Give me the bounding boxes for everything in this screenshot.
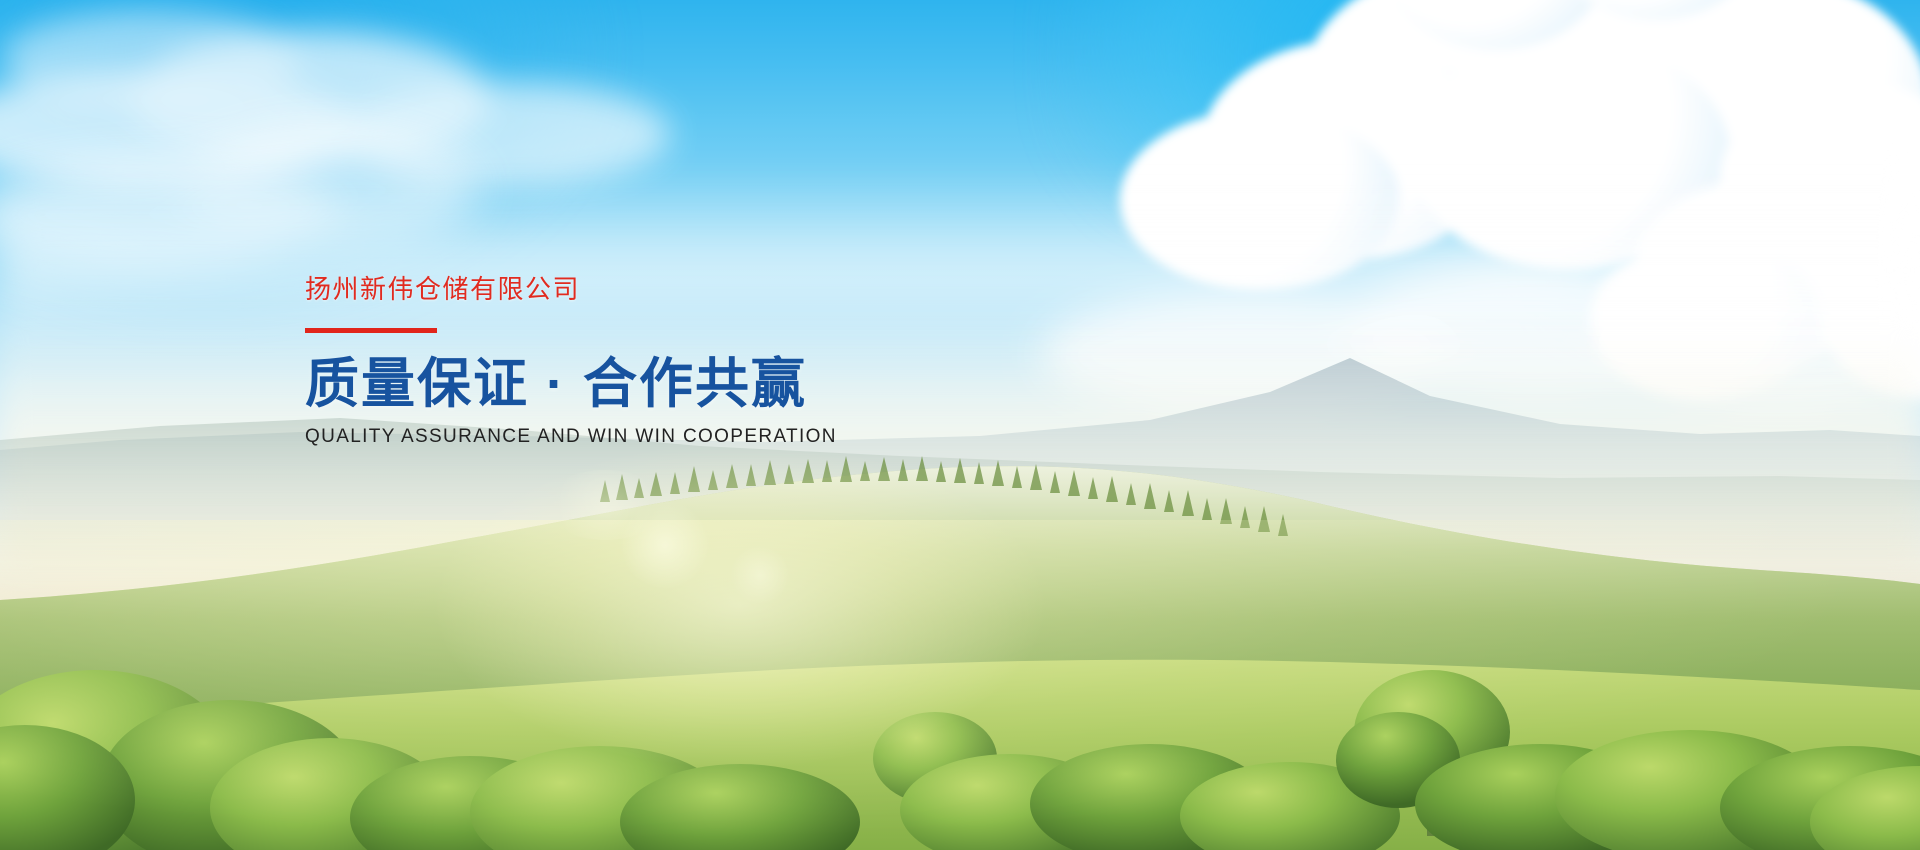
treeline-crest-silhouette [0, 440, 1920, 560]
foreground-tree-canopy [0, 560, 1920, 850]
banner-text-block: 扬州新伟仓储有限公司 质量保证 · 合作共赢 QUALITY ASSURANCE… [305, 276, 1065, 448]
red-divider-rule [305, 328, 437, 333]
headline-slogan: 质量保证 · 合作共赢 [305, 357, 1065, 412]
hero-banner: 扬州新伟仓储有限公司 质量保证 · 合作共赢 QUALITY ASSURANCE… [0, 0, 1920, 850]
company-name: 扬州新伟仓储有限公司 [305, 276, 1065, 302]
subtitle-slogan-english: QUALITY ASSURANCE AND WIN WIN COOPERATIO… [305, 427, 1065, 448]
